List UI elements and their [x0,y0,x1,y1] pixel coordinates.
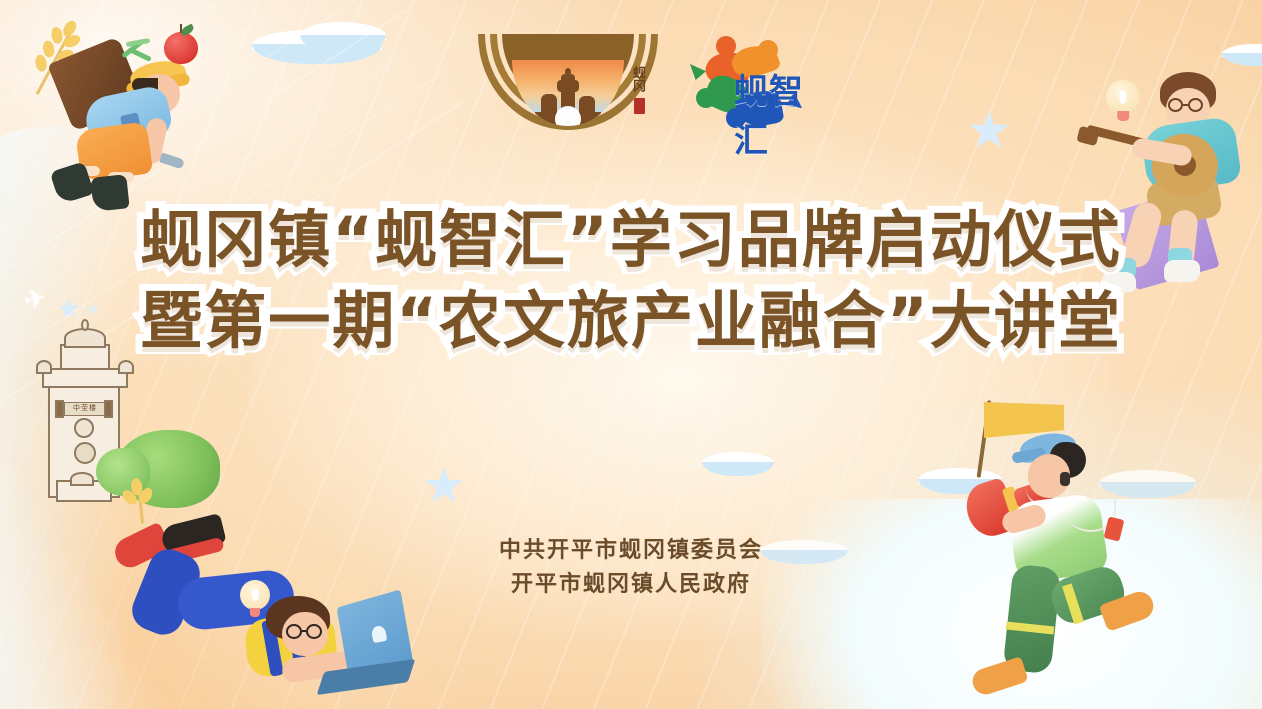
diaolou-window-left [55,400,64,418]
diaolou-clock [74,442,96,464]
guitar-headstock [1076,126,1099,146]
fan-logo-text: 蚬冈 [630,66,644,92]
xian-gang-fan-logo: 蚬冈 [478,34,658,130]
diaolou-turret-left [36,360,52,374]
xian-zhi-hui-logo: 蚬智汇 [690,34,838,126]
promotional-poster: ✈ [0,0,1262,709]
runner-shoe-back [969,656,1028,697]
student-glasses [286,624,328,639]
headline-line-1: 蚬冈镇“蚬智汇”学习品牌启动仪式 [0,200,1262,281]
farmer-trowel [159,153,185,170]
diaolou-plaque: 中茔楼 [64,402,106,416]
diaolou-medallion [74,418,94,438]
farmer-with-basket [34,26,234,216]
idea-bulb-icon [1106,80,1140,114]
runner-headset-earpiece [1060,472,1070,486]
cloud-top-left-2 [300,22,386,52]
diaolou-window-right [104,400,113,418]
fan-moon [555,106,581,126]
diaolou-turret-right [118,360,134,374]
star-center [424,466,464,506]
apple-icon [164,32,198,64]
signature-line-2: 开平市蚬冈镇人民政府 [0,568,1262,602]
cloud-mid-right [702,452,774,476]
diaolou-porch [70,472,94,486]
page-title: 蚬冈镇“蚬智汇”学习品牌启动仪式 暨第一期“农文旅产业融合”大讲堂 [0,200,1262,361]
fan-seal-stamp [634,98,645,114]
cloud-top-left [252,30,382,64]
signature-line-1: 中共开平市蚬冈镇委员会 [0,534,1262,568]
headline-line-2: 暨第一期“农文旅产业融合”大讲堂 [0,281,1262,362]
organizer-signature: 中共开平市蚬冈镇委员会 开平市蚬冈镇人民政府 [0,534,1262,602]
diaolou-balcony [42,368,128,388]
brand-logo-text: 蚬智汇 [734,64,838,162]
star-right [968,110,1010,152]
guitarist-glasses [1168,98,1212,112]
